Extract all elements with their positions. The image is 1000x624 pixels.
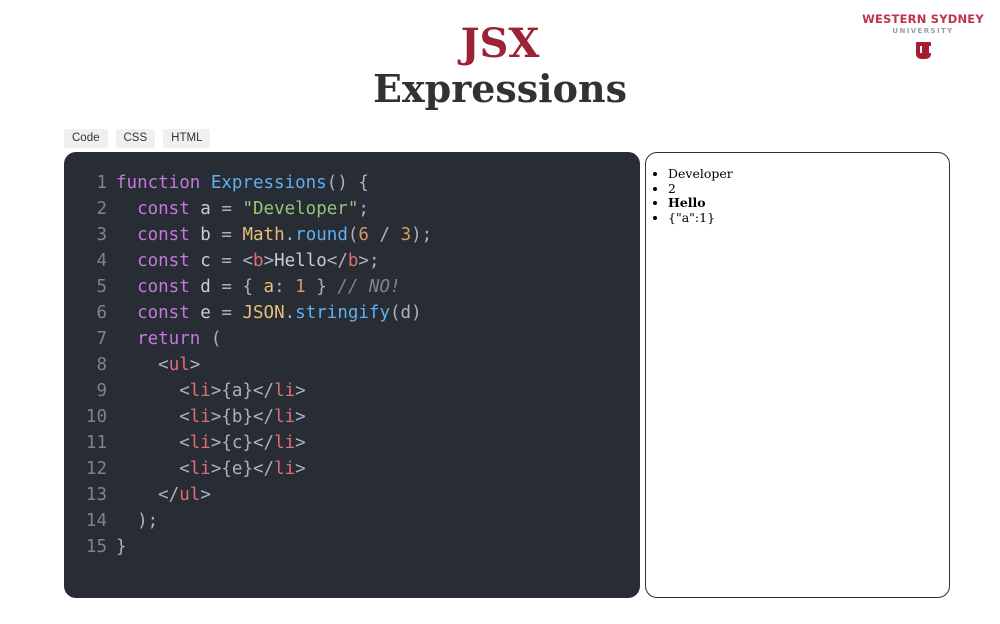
code-line-text: <li>{b}</li> <box>116 404 306 430</box>
line-number: 7 <box>64 326 116 352</box>
code-token: li <box>190 459 211 479</box>
code-editor-panel[interactable]: 1function Expressions() {2 const a = "De… <box>64 152 640 598</box>
code-token: = <box>221 225 232 245</box>
code-line-text: } <box>116 534 127 560</box>
code-token <box>232 199 243 219</box>
code-token: = <box>221 277 232 297</box>
line-number: 15 <box>64 534 116 560</box>
code-token: e <box>190 303 222 323</box>
page-title: JSX Expressions <box>0 24 1000 108</box>
code-line: 2 const a = "Developer"; <box>64 196 640 222</box>
code-token: < <box>158 355 169 375</box>
code-token: } <box>306 277 338 297</box>
code-line-text: const b = Math.round(6 / 3); <box>116 222 432 248</box>
code-token: a <box>190 199 222 219</box>
code-token: (d) <box>390 303 422 323</box>
code-token: stringify <box>295 303 390 323</box>
code-token: 6 <box>358 225 369 245</box>
code-token <box>116 329 137 349</box>
slide-header: JSX Expressions WESTERN SYDNEY UNIVERSIT… <box>0 0 1000 128</box>
code-line: 11 <li>{c}</li> <box>64 430 640 456</box>
line-number: 11 <box>64 430 116 456</box>
output-preview-panel: Developer2Hello{"a":1} <box>645 152 950 598</box>
code-token: const <box>137 225 190 245</box>
tab-html[interactable]: HTML <box>163 129 210 148</box>
code-token: { <box>232 277 264 297</box>
code-line-text: <li>{e}</li> <box>116 456 306 482</box>
code-token: ; <box>358 199 369 219</box>
code-token <box>116 251 137 271</box>
code-token <box>116 199 137 219</box>
code-token <box>116 407 179 427</box>
code-line: 7 return ( <box>64 326 640 352</box>
tab-code[interactable]: Code <box>64 129 108 148</box>
code-token: . <box>285 225 296 245</box>
output-list-item: Developer <box>668 167 949 182</box>
code-token: round <box>295 225 348 245</box>
line-number: 5 <box>64 274 116 300</box>
code-token: 3 <box>401 225 412 245</box>
code-token: </ <box>327 251 348 271</box>
code-token: d <box>190 277 222 297</box>
code-token: () { <box>327 173 369 193</box>
code-token: const <box>137 303 190 323</box>
code-token: ( <box>200 329 221 349</box>
line-number: 3 <box>64 222 116 248</box>
code-line-text: <ul> <box>116 352 200 378</box>
code-token: Expressions <box>211 173 327 193</box>
code-token: ( <box>348 225 359 245</box>
output-list: Developer2Hello{"a":1} <box>646 153 949 225</box>
code-token: "Developer" <box>242 199 358 219</box>
line-number: 13 <box>64 482 116 508</box>
code-line-text: ); <box>116 508 158 534</box>
code-token: > <box>295 381 306 401</box>
line-number: 10 <box>64 404 116 430</box>
code-token: li <box>190 433 211 453</box>
line-number: 6 <box>64 300 116 326</box>
code-token: > <box>295 459 306 479</box>
code-token: = <box>221 251 232 271</box>
code-token: / <box>369 225 401 245</box>
code-token: >{c}</ <box>211 433 274 453</box>
code-token: Math <box>242 225 284 245</box>
line-number: 8 <box>64 352 116 378</box>
code-token: const <box>137 199 190 219</box>
code-token: < <box>179 459 190 479</box>
code-token: > <box>264 251 275 271</box>
university-logo: WESTERN SYDNEY UNIVERSITY <box>858 14 988 63</box>
code-line: 3 const b = Math.round(6 / 3); <box>64 222 640 248</box>
code-token: >{b}</ <box>211 407 274 427</box>
code-line: 8 <ul> <box>64 352 640 378</box>
output-list-item: Hello <box>668 196 949 211</box>
code-line-text: const c = <b>Hello</b>; <box>116 248 380 274</box>
code-token: : <box>274 277 295 297</box>
code-token: // NO! <box>337 277 400 297</box>
code-line-text: const e = JSON.stringify(d) <box>116 300 422 326</box>
code-token: li <box>274 407 295 427</box>
code-token: . <box>285 303 296 323</box>
line-number: 12 <box>64 456 116 482</box>
code-token: > <box>295 407 306 427</box>
output-list-item: 2 <box>668 182 949 197</box>
code-token: b <box>348 251 359 271</box>
code-line: 6 const e = JSON.stringify(d) <box>64 300 640 326</box>
code-line: 4 const c = <b>Hello</b>; <box>64 248 640 274</box>
title-main: JSX <box>0 24 1000 64</box>
code-token <box>116 303 137 323</box>
code-token: return <box>137 329 200 349</box>
code-token <box>116 485 158 505</box>
code-token: ); <box>411 225 432 245</box>
code-token: li <box>274 459 295 479</box>
code-token: JSON <box>242 303 284 323</box>
code-token <box>116 355 158 375</box>
code-token: < <box>179 433 190 453</box>
code-token: < <box>242 251 253 271</box>
logo-subword: UNIVERSITY <box>858 28 988 35</box>
code-token: < <box>179 407 190 427</box>
tab-bar: CodeCSSHTML <box>64 129 210 148</box>
code-lines: 1function Expressions() {2 const a = "De… <box>64 152 640 560</box>
code-line: 12 <li>{e}</li> <box>64 456 640 482</box>
code-line: 13 </ul> <box>64 482 640 508</box>
code-line-text: function Expressions() { <box>116 170 369 196</box>
code-token: } <box>116 537 127 557</box>
line-number: 1 <box>64 170 116 196</box>
logo-wordmark: WESTERN SYDNEY <box>858 14 988 26</box>
code-token <box>116 277 137 297</box>
code-line-text: const a = "Developer"; <box>116 196 369 222</box>
code-line: 5 const d = { a: 1 } // NO! <box>64 274 640 300</box>
code-token <box>116 459 179 479</box>
line-number: 14 <box>64 508 116 534</box>
code-token: li <box>274 433 295 453</box>
code-token <box>232 303 243 323</box>
code-token: a <box>264 277 275 297</box>
code-line: 1function Expressions() { <box>64 170 640 196</box>
tab-css[interactable]: CSS <box>116 129 156 148</box>
code-token: = <box>221 303 232 323</box>
code-token <box>116 381 179 401</box>
code-token: </ <box>158 485 179 505</box>
code-line-text: <li>{c}</li> <box>116 430 306 456</box>
code-token <box>116 433 179 453</box>
code-token <box>232 225 243 245</box>
code-token: ul <box>169 355 190 375</box>
code-line-text: const d = { a: 1 } // NO! <box>116 274 401 300</box>
code-token: li <box>190 407 211 427</box>
code-token: ul <box>179 485 200 505</box>
code-line: 15} <box>64 534 640 560</box>
output-list-item: {"a":1} <box>668 211 949 226</box>
line-number: 9 <box>64 378 116 404</box>
code-token: >; <box>358 251 379 271</box>
code-token: b <box>253 251 264 271</box>
code-line: 9 <li>{a}</li> <box>64 378 640 404</box>
code-token: > <box>190 355 201 375</box>
code-token: const <box>137 277 190 297</box>
code-token: const <box>137 251 190 271</box>
code-token: Hello <box>274 251 327 271</box>
crest-icon <box>916 42 931 59</box>
code-line-text: <li>{a}</li> <box>116 378 306 404</box>
code-token: >{e}</ <box>211 459 274 479</box>
code-token <box>116 225 137 245</box>
code-line-text: return ( <box>116 326 221 352</box>
code-line-text: </ul> <box>116 482 211 508</box>
title-subtitle: Expressions <box>0 70 1000 108</box>
code-token: > <box>200 485 211 505</box>
code-token: li <box>190 381 211 401</box>
code-token: b <box>190 225 222 245</box>
code-token: > <box>295 433 306 453</box>
code-token <box>232 251 243 271</box>
code-line: 14 ); <box>64 508 640 534</box>
code-token: 1 <box>295 277 306 297</box>
code-token: c <box>190 251 222 271</box>
line-number: 2 <box>64 196 116 222</box>
code-line: 10 <li>{b}</li> <box>64 404 640 430</box>
code-token: < <box>179 381 190 401</box>
code-token: function <box>116 173 211 193</box>
code-token: >{a}</ <box>211 381 274 401</box>
code-token: ); <box>116 511 158 531</box>
code-token: = <box>221 199 232 219</box>
code-token: li <box>274 381 295 401</box>
line-number: 4 <box>64 248 116 274</box>
